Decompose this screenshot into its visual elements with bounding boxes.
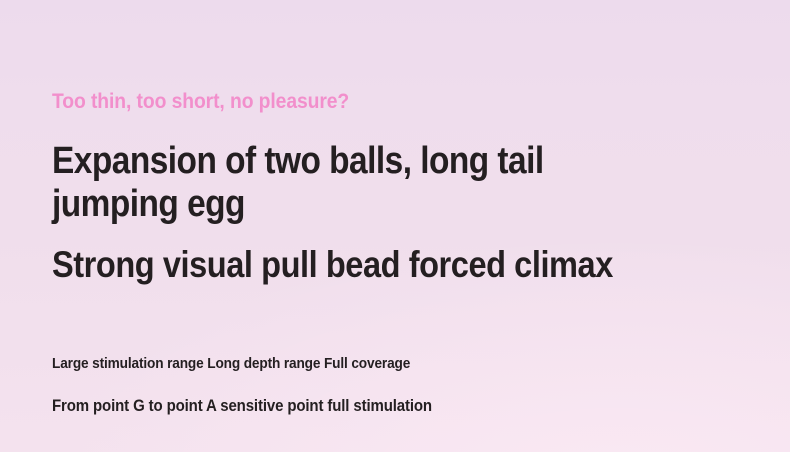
headline-primary: Expansion of two balls, long tail jumpin… — [52, 140, 580, 226]
eyebrow-question: Too thin, too short, no pleasure? — [52, 89, 349, 115]
headline-secondary: Strong visual pull bead forced climax — [52, 243, 613, 287]
feature-line-stimulation: From point G to point A sensitive point … — [52, 396, 432, 417]
feature-line-coverage: Large stimulation range Long depth range… — [52, 354, 410, 373]
promo-banner: Too thin, too short, no pleasure? Expans… — [0, 0, 790, 452]
